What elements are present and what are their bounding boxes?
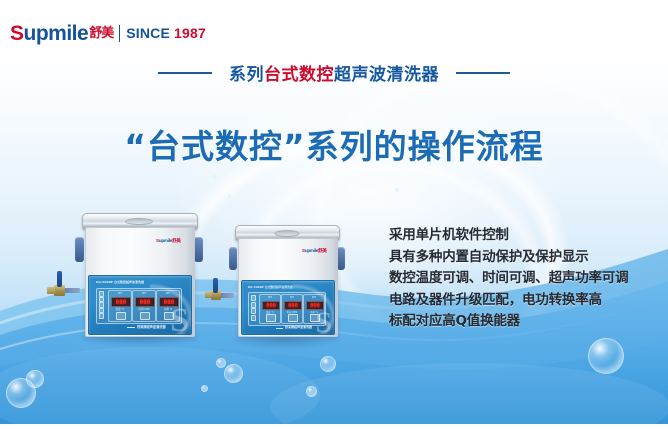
panel-led-display: 000	[159, 297, 179, 307]
panel-button[interactable]	[251, 302, 256, 308]
page-title: “台式数控”系列的操作流程	[0, 120, 668, 168]
bubble-large-right	[588, 338, 624, 374]
product-lid-handle-slot	[275, 230, 300, 237]
product-side-handle-right	[337, 247, 345, 270]
subtitle-text: 系列台式数控超声波清洗器	[229, 60, 439, 85]
panel-button[interactable]	[99, 291, 104, 297]
panel-display-top-label: SET	[133, 292, 155, 295]
feature-item: 数控温度可调、时间可调、超声功率可调	[389, 268, 664, 290]
panel-button[interactable]	[99, 302, 104, 308]
panel-display-top-label: SET	[304, 296, 324, 299]
product-drain-valve-nose	[205, 292, 212, 298]
product-side-handle-right	[194, 237, 203, 262]
panel-knob[interactable]	[310, 314, 320, 322]
panel-button-column[interactable]	[99, 291, 104, 319]
panel-display-top-label: SET	[157, 292, 179, 295]
bubble-small-mid	[216, 358, 226, 368]
subtitle-rule-left	[158, 72, 212, 74]
bubble-small-center	[306, 386, 317, 397]
brand-logo: S upmile 舒美 SINCE 1987	[10, 22, 206, 44]
subtitle-row: 系列台式数控超声波清洗器	[0, 60, 668, 85]
product-logo-wordmark: upmile	[159, 238, 172, 243]
panel-display-top-label: SET	[109, 292, 131, 295]
panel-led-value: 000	[310, 303, 320, 309]
panel-led-value: 000	[116, 299, 127, 306]
panel-led-value: 000	[266, 303, 276, 309]
logo-wordmark: upmile	[24, 23, 89, 44]
panel-display-label: 时间 MIN	[133, 307, 155, 311]
panel-led-display: 000	[262, 301, 280, 310]
panel-display-top-label: SET	[282, 296, 302, 299]
subtitle-part-3: 超声波清洗器	[334, 65, 439, 85]
feature-item: 标配对应高Q值换能器	[389, 311, 664, 333]
product-drain-valve-handle[interactable]	[57, 271, 62, 287]
panel-led-display: 000	[306, 301, 324, 310]
product-unit-small: Supmile舒美 S KQ-300DE 台式数控超声波清洗器 SET 000 …	[232, 225, 342, 337]
subtitle-part-1: 系列	[229, 65, 264, 85]
panel-led-value: 000	[140, 299, 151, 306]
feature-item: 采用单片机软件控制	[389, 225, 664, 247]
subtitle-part-2: 台式数控	[264, 65, 334, 85]
product-logo-wordmark: upmile	[305, 248, 318, 253]
panel-display-cell: SET 000 功率 %	[156, 290, 180, 322]
panel-brand-dash	[276, 328, 283, 329]
product-control-panel[interactable]: S KQ-500DE 台式数控超声波清洗器 SET 000 温度 ℃	[88, 275, 192, 335]
bubble-tiny-upper-2	[228, 195, 231, 198]
panel-brand-label: 舒美牌超声波清洗器	[285, 325, 312, 329]
panel-knob[interactable]	[288, 314, 298, 322]
bubble-medium-mid	[224, 364, 243, 383]
panel-led-value: 000	[288, 303, 298, 309]
product-drain-valve-handle[interactable]	[213, 278, 218, 293]
bubble-medium-center	[320, 356, 336, 372]
panel-display-cell: SET 000 温度 ℃	[259, 294, 281, 324]
logo-letter-s: S	[10, 23, 24, 44]
bubble-tiny-upper	[213, 175, 217, 179]
panel-led-value: 000	[164, 299, 175, 306]
panel-led-display: 000	[135, 297, 155, 307]
subtitle-rule-right	[456, 72, 510, 74]
bubble-tiny-upper-3	[395, 188, 399, 192]
product-body-logo: Supmile舒美	[156, 238, 181, 244]
product-side-handle-left	[75, 237, 84, 262]
product-lid-handle-slot	[125, 218, 153, 225]
panel-display-cell: SET 000 功率 %	[303, 294, 325, 324]
panel-button[interactable]	[99, 313, 104, 319]
bubble-medium-left	[26, 370, 44, 388]
product-unit-large: Supmile舒美 S KQ-500DE 台式数控超声波清洗器 SET 000	[78, 213, 200, 337]
logo-since-label: SINCE	[126, 26, 170, 40]
panel-knob[interactable]	[266, 314, 276, 322]
bubble-tiny-mid	[201, 385, 208, 392]
logo-chinese-name: 舒美	[89, 27, 113, 40]
panel-led-display: 000	[284, 301, 302, 310]
panel-display-label: 功率 %	[157, 307, 179, 311]
feature-list: 采用单片机软件控制 具有多种内置自动保护及保护显示 数控温度可调、时间可调、超声…	[389, 225, 664, 333]
panel-led-display: 000	[111, 297, 131, 307]
panel-display-top-label: SET	[260, 296, 280, 299]
panel-display-cell: SET 000 时间 MIN	[132, 290, 156, 322]
panel-button[interactable]	[251, 308, 256, 314]
panel-knob[interactable]	[116, 312, 126, 320]
panel-display-label: 温度 ℃	[109, 307, 131, 311]
bubble-large-left	[6, 378, 36, 408]
panel-button-column[interactable]	[251, 295, 256, 321]
panel-brand-dash	[127, 327, 135, 328]
logo-divider	[119, 25, 120, 42]
panel-brand-label: 舒美牌超声波清洗器	[137, 324, 166, 329]
product-logo-cn: 舒美	[172, 238, 181, 243]
product-control-panel[interactable]: S KQ-300DE 台式数控超声波清洗器 SET 000 温度 ℃ SET	[241, 280, 335, 335]
panel-display-cell: SET 000 温度 ℃	[108, 290, 132, 322]
panel-model-label: KQ-300DE 台式数控超声波清洗器	[248, 285, 293, 289]
panel-button[interactable]	[251, 315, 256, 321]
feature-item: 电路及器件升级匹配，电功转换率高	[389, 290, 664, 312]
panel-knob[interactable]	[164, 312, 174, 320]
panel-model-label: KQ-500DE 台式数控超声波清洗器	[96, 280, 144, 284]
panel-knob[interactable]	[140, 312, 150, 320]
panel-button[interactable]	[251, 295, 256, 301]
product-drain-valve-nose	[47, 287, 55, 294]
feature-item: 具有多种内置自动保护及保护显示	[389, 247, 664, 269]
logo-since-year: 1987	[174, 26, 206, 40]
product-body-logo: Supmile舒美	[302, 248, 327, 254]
product-side-handle-left	[229, 247, 237, 270]
slide-canvas: S upmile 舒美 SINCE 1987 系列台式数控超声波清洗器 “台式数…	[0, 0, 668, 429]
panel-display-cell: SET 000 时间 MIN	[281, 294, 303, 324]
product-logo-cn: 舒美	[318, 248, 327, 253]
